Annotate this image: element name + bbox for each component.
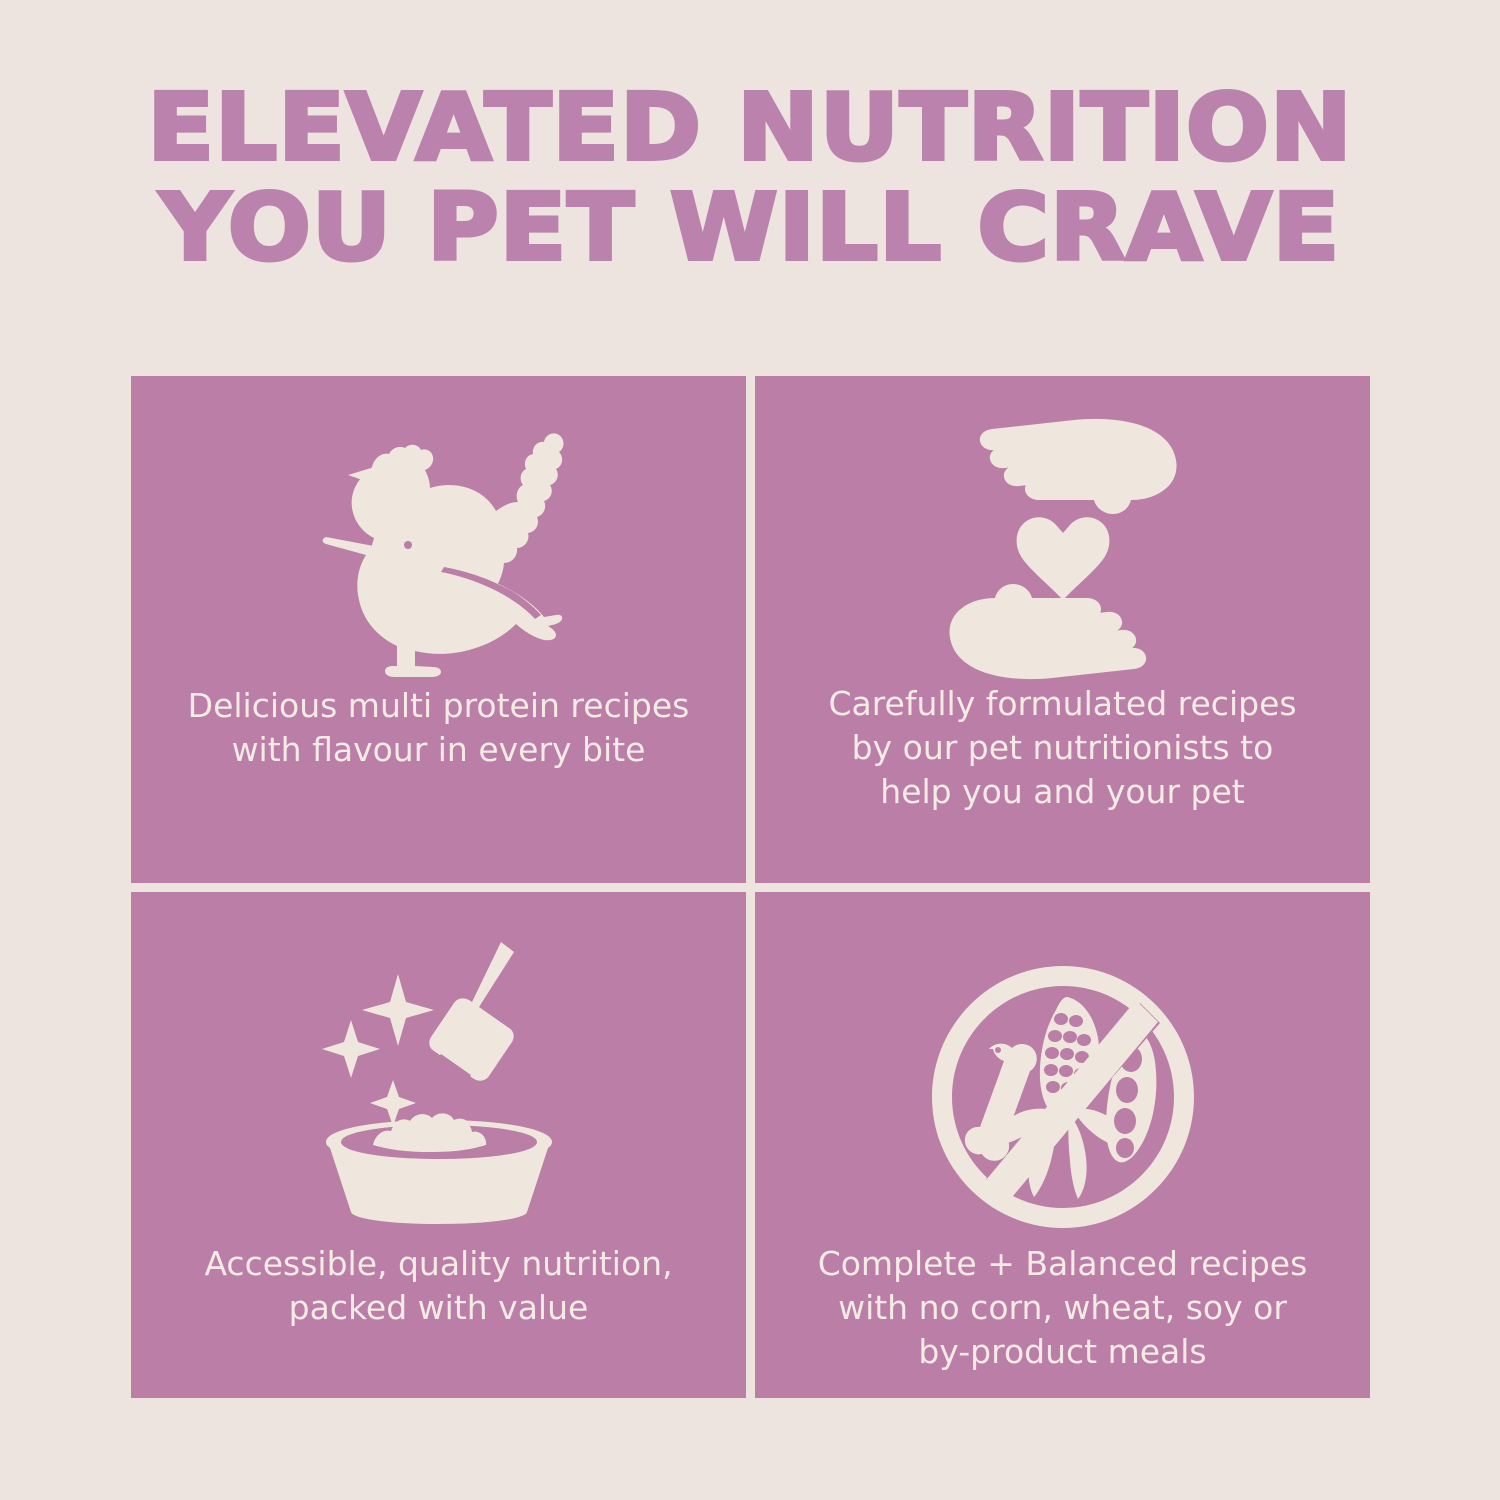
feature-card-label: Accessible, quality nutrition, packed wi… [131, 1242, 746, 1330]
feature-grid: Delicious multi protein recipes with fla… [131, 376, 1370, 1398]
headline-line-1: ELEVATED NUTRITION [0, 78, 1500, 178]
promo-panel: ELEVATED NUTRITION YOU PET WILL CRAVE [0, 0, 1500, 1500]
feature-card-protein: Delicious multi protein recipes with fla… [131, 376, 746, 883]
feature-card-value: Accessible, quality nutrition, packed wi… [131, 892, 746, 1399]
feature-card-label: Carefully formulated recipes by our pet … [755, 682, 1370, 814]
chicken-duck-icon [131, 418, 746, 680]
hands-heart-icon [755, 418, 1370, 680]
scoop-bowl-sparkles-icon [131, 936, 746, 1224]
feature-card-no-fillers: Complete + Balanced recipes with no corn… [755, 892, 1370, 1399]
page-title: ELEVATED NUTRITION YOU PET WILL CRAVE [0, 78, 1500, 278]
feature-card-label: Complete + Balanced recipes with no corn… [755, 1242, 1370, 1374]
no-corn-wheat-soy-icon [755, 962, 1370, 1232]
feature-card-label: Delicious multi protein recipes with fla… [131, 684, 746, 772]
feature-card-formulated: Carefully formulated recipes by our pet … [755, 376, 1370, 883]
headline-line-2: YOU PET WILL CRAVE [0, 178, 1500, 278]
